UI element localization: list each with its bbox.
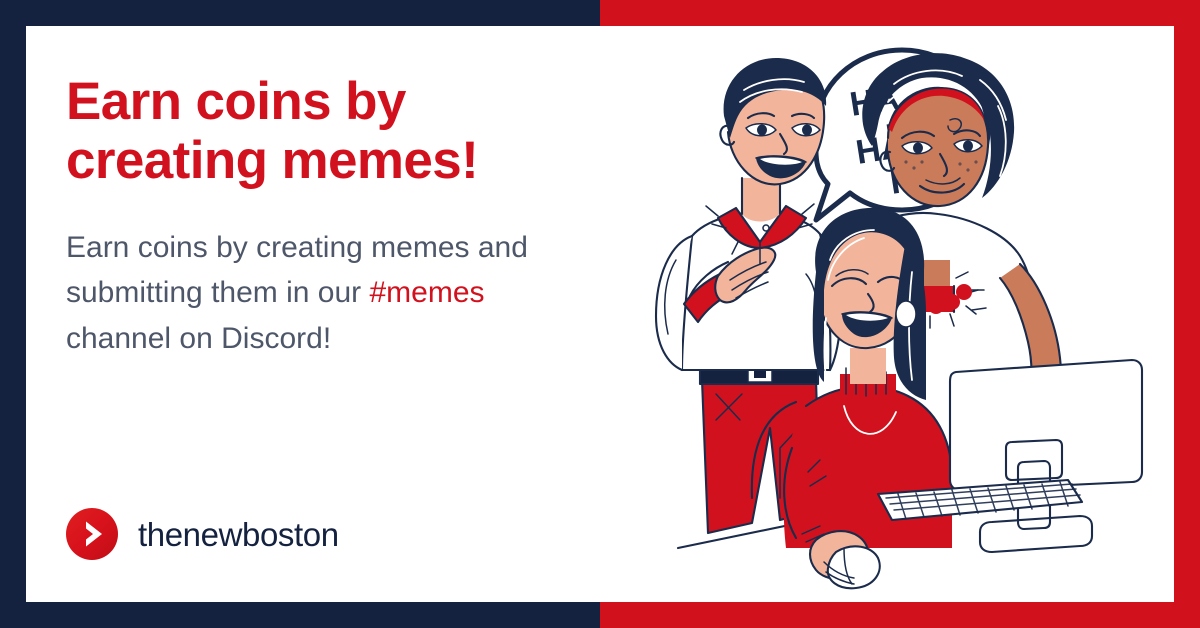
memes-channel-mention: #memes: [369, 276, 484, 309]
three-people-laughing-illustration: HA HA HA HA: [626, 28, 1174, 600]
text-column: Earn coins by creating memes! Earn coins…: [26, 26, 626, 602]
computer-monitor: [950, 360, 1142, 552]
page-title: Earn coins by creating memes!: [66, 72, 586, 191]
content-card: Earn coins by creating memes! Earn coins…: [26, 26, 1174, 602]
promo-banner: Earn coins by creating memes! Earn coins…: [0, 0, 1200, 628]
headline-line-1: Earn coins by: [66, 72, 406, 131]
headline-line-2: creating memes!: [66, 131, 478, 190]
body-description: Earn coins by creating memes and submitt…: [66, 225, 586, 362]
illustration-column: HA HA HA HA: [626, 26, 1174, 602]
chevron-right-circle-icon: [66, 508, 118, 560]
brand-logo: thenewboston: [66, 508, 586, 568]
brand-wordmark: thenewboston: [138, 518, 339, 551]
body-text-part-2: channel on Discord!: [66, 322, 331, 355]
